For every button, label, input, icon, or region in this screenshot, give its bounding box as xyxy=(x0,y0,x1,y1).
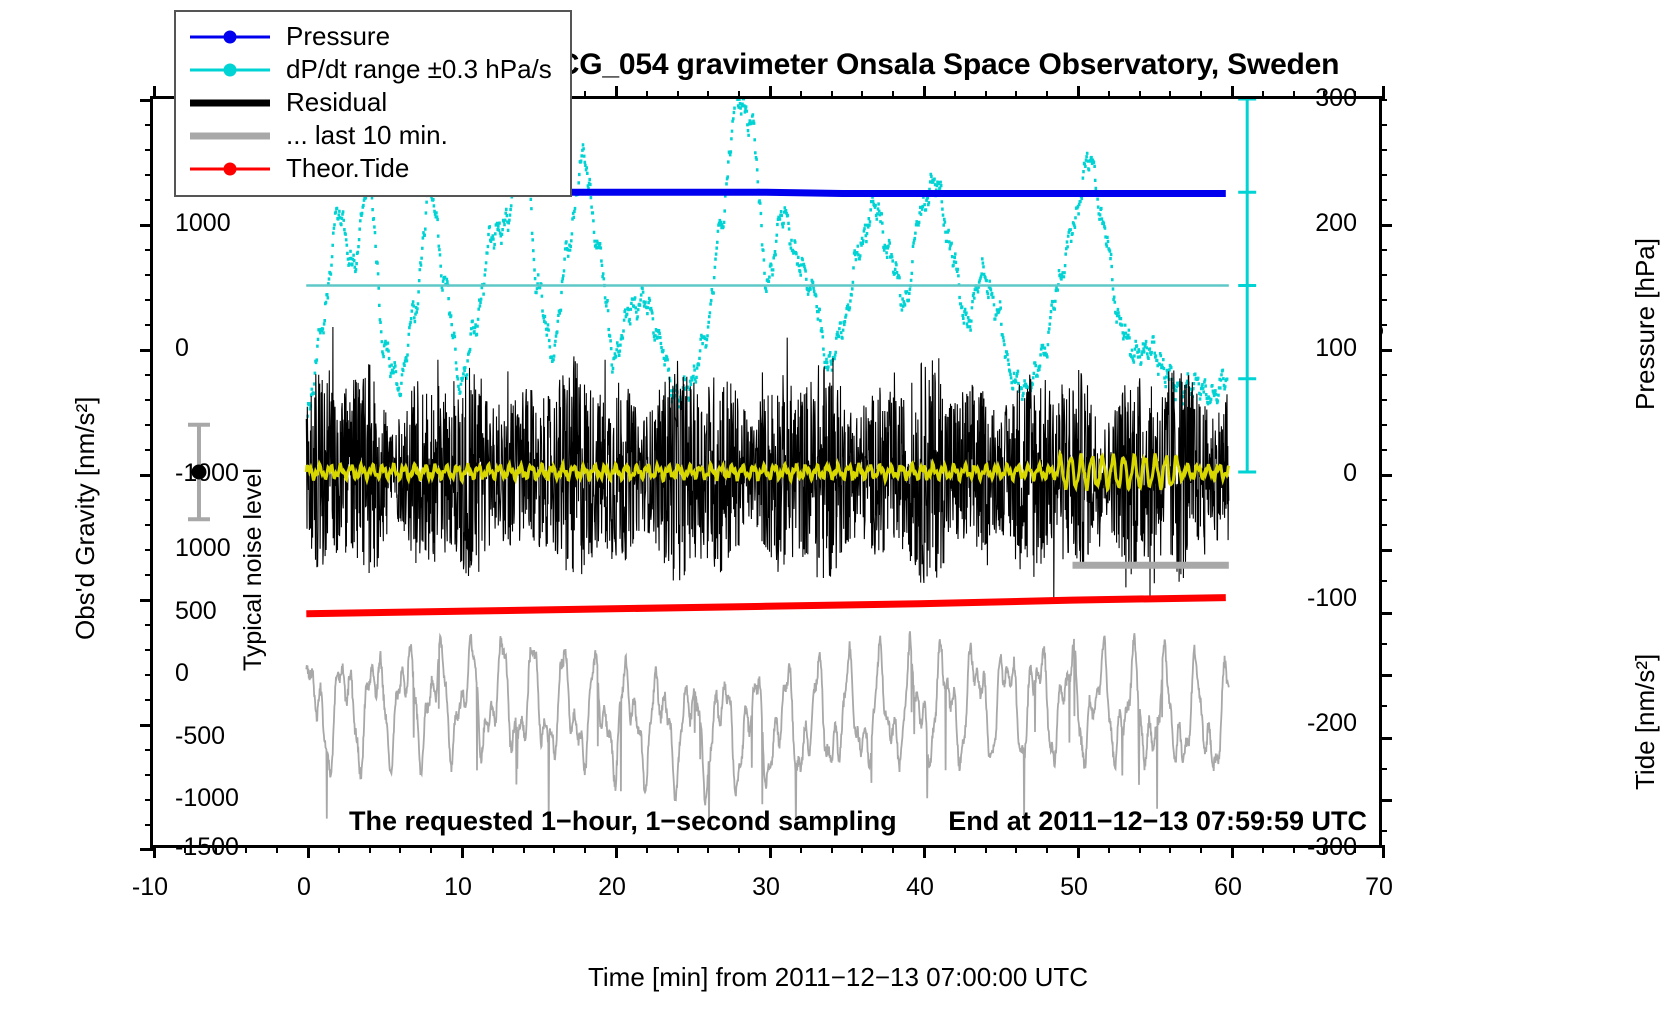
legend-item-dpdt[interactable]: dP/dt range ±0.3 hPa/s xyxy=(186,53,552,86)
legend-item-pressure[interactable]: Pressure xyxy=(186,20,552,53)
plot-area: 300 200 100 0 -100 -200 -300 xyxy=(150,96,1382,848)
x-tick-label: 40 xyxy=(906,875,934,900)
x-tick-label: 70 xyxy=(1365,875,1393,900)
legend-label: Residual xyxy=(274,87,387,118)
x-tick-label: 60 xyxy=(1214,875,1242,900)
x-axis-title: Time [min] from 2011−12−13 07:00:00 UTC xyxy=(588,962,1088,993)
legend-label: dP/dt range ±0.3 hPa/s xyxy=(274,54,552,85)
right-pressure-axis-title: Pressure [hPa] xyxy=(1630,238,1661,410)
x-tick-label: 20 xyxy=(598,875,626,900)
legend-swatch-dpdt xyxy=(186,53,274,86)
noise-level-label: Typical noise level xyxy=(239,468,268,671)
series-tide-detail xyxy=(306,631,1229,830)
end-time-note: End at 2011−12−13 07:59:59 UTC xyxy=(948,806,1367,837)
legend-swatch-residual xyxy=(186,86,274,119)
data-svg xyxy=(153,99,1379,845)
legend-item-last10[interactable]: ... last 10 min. xyxy=(186,119,552,152)
legend-item-residual[interactable]: Residual xyxy=(186,86,552,119)
series-theor-tide xyxy=(306,598,1226,614)
legend-label: Theor.Tide xyxy=(274,153,409,184)
legend-label: ... last 10 min. xyxy=(274,120,448,151)
x-tick-label: 0 xyxy=(297,875,311,900)
x-tick-label: 50 xyxy=(1060,875,1088,900)
sampling-note: The requested 1−hour, 1−second sampling xyxy=(349,806,897,837)
legend-swatch-last10 xyxy=(186,119,274,152)
legend-swatch-pressure xyxy=(186,20,274,53)
left-axis-title: Obs'd Gravity [nm/s²] xyxy=(70,397,101,640)
legend-swatch-theor-tide xyxy=(186,152,274,185)
chart-legend[interactable]: Pressure dP/dt range ±0.3 hPa/s Residual… xyxy=(174,10,572,197)
chart-title: SCG_054 gravimeter Onsala Space Observat… xyxy=(538,48,1339,82)
scale-bar xyxy=(1238,99,1256,472)
x-tick-label: 10 xyxy=(444,875,472,900)
legend-item-theor-tide[interactable]: Theor.Tide xyxy=(186,152,552,185)
x-tick-label: 30 xyxy=(752,875,780,900)
legend-label: Pressure xyxy=(274,21,390,52)
noise-marker xyxy=(188,425,210,519)
series-canvas xyxy=(153,99,1379,845)
right-tide-axis-title: Tide [nm/s²] xyxy=(1630,654,1661,790)
x-tick-label: -10 xyxy=(132,875,168,900)
